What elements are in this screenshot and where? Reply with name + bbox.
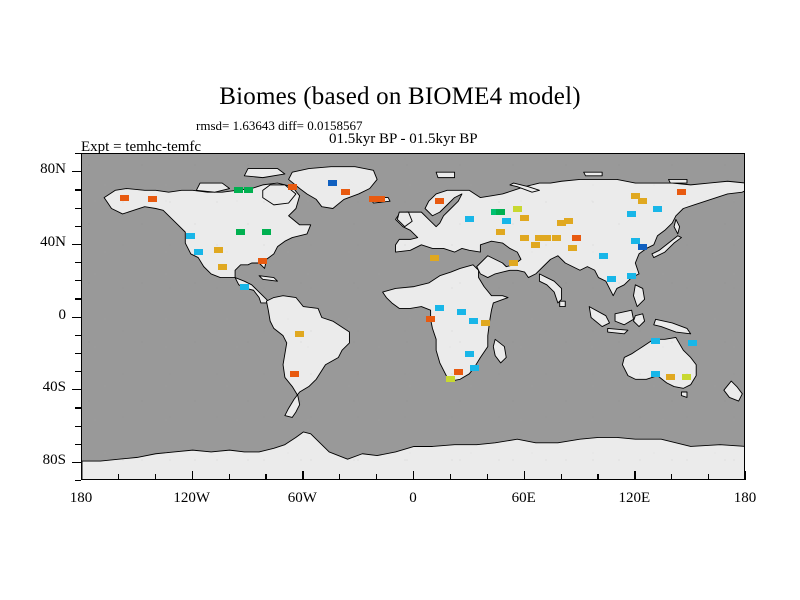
x-axis-minor-tick — [708, 474, 709, 480]
biome-site-marker — [572, 235, 581, 241]
time-period-label: 01.5kyr BP - 01.5kyr BP — [329, 131, 478, 148]
biome-site-marker — [288, 184, 297, 190]
x-axis-tick-label: 60W — [262, 490, 342, 507]
biome-site-marker — [568, 245, 577, 251]
figure-canvas: Biomes (based on BIOME4 model) rmsd= 1.6… — [0, 0, 800, 600]
y-axis-minor-tick — [75, 189, 81, 190]
x-axis-minor-tick — [450, 474, 451, 480]
y-axis-minor-tick — [75, 480, 81, 481]
landmass-severnaya-zemlya — [584, 172, 602, 176]
biome-site-marker — [426, 316, 435, 322]
x-axis-minor-tick — [229, 474, 230, 480]
biome-site-marker — [430, 255, 439, 261]
biome-site-marker — [627, 211, 636, 217]
land-masses — [82, 167, 745, 480]
x-axis-tick-label: 60E — [484, 490, 564, 507]
biome-site-marker — [446, 376, 455, 382]
x-axis-tick-label: 180 — [705, 490, 785, 507]
landmass-ellesmere — [244, 169, 285, 178]
biome-site-marker — [214, 247, 223, 253]
biome-site-marker — [148, 196, 157, 202]
y-axis-minor-tick — [75, 280, 81, 281]
biome-site-marker — [513, 206, 522, 212]
biome-site-marker — [481, 320, 490, 326]
x-axis-major-tick — [413, 471, 414, 480]
biome-site-marker — [599, 253, 608, 259]
biome-site-marker — [651, 371, 660, 377]
landmass-sulawesi — [633, 314, 644, 327]
biome-site-marker — [496, 209, 505, 215]
biome-site-marker — [295, 331, 304, 337]
x-axis-tick-label: 120E — [594, 490, 674, 507]
y-axis-minor-tick — [75, 226, 81, 227]
biome-site-marker — [470, 365, 479, 371]
biome-site-marker — [435, 305, 444, 311]
page-title: Biomes (based on BIOME4 model) — [0, 83, 800, 111]
landmass-australia — [622, 337, 696, 388]
biome-site-marker — [677, 189, 686, 195]
biome-site-marker — [262, 229, 271, 235]
biome-site-marker — [666, 374, 675, 380]
biome-site-marker — [688, 340, 697, 346]
x-axis-major-tick — [524, 471, 525, 480]
biome-site-marker — [218, 264, 227, 270]
y-axis-minor-tick — [75, 444, 81, 445]
y-axis-major-tick — [72, 462, 81, 463]
x-axis-minor-tick — [487, 474, 488, 480]
biome-site-marker — [682, 374, 691, 380]
biome-site-marker — [240, 284, 249, 290]
world-map-plot-area — [81, 153, 745, 480]
biome-site-marker — [236, 229, 245, 235]
biome-site-marker — [435, 198, 444, 204]
y-axis-tick-label: 40N — [0, 234, 66, 251]
landmass-sumatra — [589, 307, 609, 327]
y-axis-minor-tick — [75, 208, 81, 209]
biome-site-marker — [258, 258, 267, 264]
x-axis-major-tick — [192, 471, 193, 480]
y-axis-tick-label: 80N — [0, 161, 66, 178]
x-axis-tick-label: 180 — [41, 490, 121, 507]
x-axis-major-tick — [745, 471, 746, 480]
biome-site-marker — [465, 216, 474, 222]
biome-site-marker — [496, 229, 505, 235]
x-axis-minor-tick — [155, 474, 156, 480]
x-axis-minor-tick — [597, 474, 598, 480]
x-axis-major-tick — [302, 471, 303, 480]
biome-site-marker — [552, 235, 561, 241]
y-axis-minor-tick — [75, 298, 81, 299]
x-axis-minor-tick — [561, 474, 562, 480]
landmass-philippines — [633, 285, 644, 307]
y-axis-minor-tick — [75, 262, 81, 263]
x-axis-major-tick — [634, 471, 635, 480]
landmass-cuba — [259, 276, 277, 281]
y-axis-tick-label: 80S — [0, 452, 66, 469]
landmass-svalbard — [436, 172, 454, 177]
biome-site-marker — [638, 244, 647, 250]
y-axis-tick-label: 40S — [0, 379, 66, 396]
biome-site-marker — [120, 195, 129, 201]
x-axis-tick-label: 120W — [152, 490, 232, 507]
landmass-victoria-island — [196, 183, 229, 192]
biome-site-marker — [465, 351, 474, 357]
biome-site-marker — [509, 260, 518, 266]
biome-site-marker — [234, 187, 243, 193]
biome-site-marker — [469, 318, 478, 324]
biome-site-marker — [542, 235, 551, 241]
x-axis-minor-tick — [671, 474, 672, 480]
y-axis-major-tick — [72, 244, 81, 245]
biome-site-marker — [653, 206, 662, 212]
biome-site-marker — [638, 198, 647, 204]
x-axis-major-tick — [81, 471, 82, 480]
landmass-south-america — [266, 296, 349, 418]
x-axis-tick-label: 0 — [373, 490, 453, 507]
biome-site-marker — [376, 196, 385, 202]
biome-site-marker — [186, 233, 195, 239]
biome-site-marker — [328, 180, 337, 186]
y-axis-major-tick — [72, 317, 81, 318]
landmass-java — [608, 328, 628, 333]
y-axis-minor-tick — [75, 353, 81, 354]
x-axis-minor-tick — [376, 474, 377, 480]
landmass-tasmania — [681, 392, 687, 397]
biome-site-marker — [531, 242, 540, 248]
landmass-borneo — [615, 310, 633, 325]
landmass-new-zealand — [724, 381, 742, 401]
y-axis-tick-label: 0 — [0, 307, 66, 324]
x-axis-minor-tick — [265, 474, 266, 480]
biome-site-marker — [454, 369, 463, 375]
y-axis-minor-tick — [75, 153, 81, 154]
biome-site-marker — [194, 249, 203, 255]
biome-site-marker — [502, 218, 511, 224]
y-axis-major-tick — [72, 171, 81, 172]
y-axis-minor-tick — [75, 407, 81, 408]
landmass-madagascar — [493, 339, 506, 363]
y-axis-minor-tick — [75, 426, 81, 427]
landmass-sakhalin — [674, 219, 680, 234]
biome-site-marker — [520, 235, 529, 241]
biome-site-marker — [457, 309, 466, 315]
biome-site-marker — [341, 189, 350, 195]
biome-site-marker — [627, 273, 636, 279]
biome-site-marker — [244, 187, 253, 193]
y-axis-major-tick — [72, 389, 81, 390]
biome-site-marker — [651, 338, 660, 344]
landmass-new-siberian-islands — [669, 179, 687, 183]
x-axis-minor-tick — [339, 474, 340, 480]
biome-site-marker — [564, 218, 573, 224]
biome-site-marker — [520, 215, 529, 221]
landmass-new-guinea — [654, 319, 691, 334]
y-axis-minor-tick — [75, 371, 81, 372]
y-axis-minor-tick — [75, 335, 81, 336]
x-axis-minor-tick — [118, 474, 119, 480]
landmass-greenland — [289, 167, 378, 209]
biome-site-marker — [607, 276, 616, 282]
biome-site-marker — [290, 371, 299, 377]
landmass-sri-lanka — [560, 301, 566, 306]
landmass-india — [539, 274, 561, 303]
